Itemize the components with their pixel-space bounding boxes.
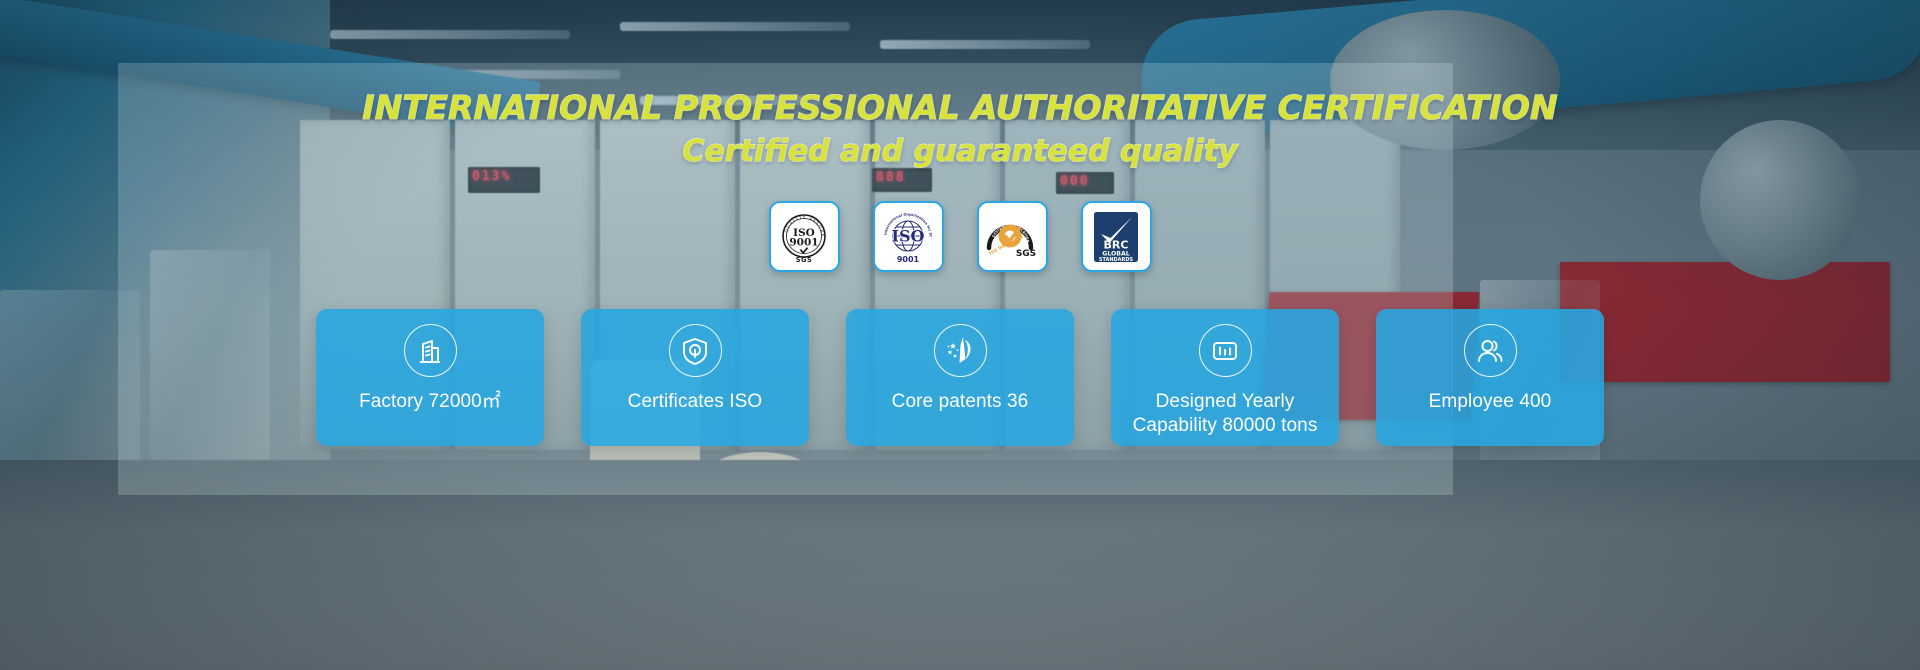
iso-globe-icon: International Organization for Standardi…: [877, 206, 939, 268]
feature-card-capability[interactable]: Designed Yearly Capability 80000 tons: [1111, 309, 1339, 446]
people-icon-wrap: [1464, 324, 1517, 377]
iso-9001-sgs-badge[interactable]: QUALITY ASSURED FIRM ISO 9001 SGS: [769, 201, 840, 272]
sgs-checkmark-icon: SYSTEM CERTIFICATION ISO 9001 2000 SGS: [981, 206, 1043, 268]
iso-9001-badge[interactable]: International Organization for Standardi…: [873, 201, 944, 272]
feature-card-label: Certificates ISO: [620, 390, 771, 414]
page-subtitle: Certified and guaranteed quality: [0, 134, 1920, 169]
svg-text:SGS: SGS: [1016, 249, 1036, 259]
certification-badges: QUALITY ASSURED FIRM ISO 9001 SGS Intern…: [0, 201, 1920, 272]
bar-chart-icon-wrap: [1199, 324, 1252, 377]
feature-card-label: Core patents 36: [884, 390, 1037, 414]
feature-card-label: Factory 72000㎡: [351, 390, 509, 414]
svg-text:9001: 9001: [897, 255, 920, 264]
feature-cards: Factory 72000㎡ Certificates ISO: [0, 309, 1920, 446]
headings: INTERNATIONAL PROFESSIONAL AUTHORITATIVE…: [0, 88, 1920, 169]
factory-building-icon-wrap: [404, 324, 457, 377]
patent-award-icon-wrap: [934, 324, 987, 377]
page-title: INTERNATIONAL PROFESSIONAL AUTHORITATIVE…: [0, 88, 1920, 127]
people-icon: [1475, 336, 1505, 366]
factory-building-icon: [415, 336, 445, 366]
certification-banner: 013% 888 000 INTERNATIONAL PROFESSIONAL …: [0, 0, 1920, 670]
feature-card-certificates[interactable]: Certificates ISO: [581, 309, 809, 446]
feature-card-label: Employee 400: [1421, 390, 1560, 414]
iso-9001-sgs-seal-icon: QUALITY ASSURED FIRM ISO 9001 SGS: [773, 206, 835, 268]
feature-card-employee[interactable]: Employee 400: [1376, 309, 1604, 446]
svg-text:STANDARDS: STANDARDS: [1099, 257, 1134, 263]
feature-card-label: Designed Yearly Capability 80000 tons: [1125, 390, 1326, 438]
sgs-iso-9001-2000-badge[interactable]: SYSTEM CERTIFICATION ISO 9001 2000 SGS: [977, 201, 1048, 272]
svg-text:9001: 9001: [789, 236, 818, 248]
svg-text:SGS: SGS: [796, 256, 812, 264]
shield-quality-icon: [680, 336, 710, 366]
brc-checkmark-icon: BRC GLOBAL STANDARDS: [1085, 206, 1147, 268]
brc-global-standards-badge[interactable]: BRC GLOBAL STANDARDS: [1081, 201, 1152, 272]
shield-quality-icon-wrap: [669, 324, 722, 377]
bar-chart-icon: [1210, 336, 1240, 366]
svg-text:ISO: ISO: [892, 226, 925, 245]
patent-award-icon: [944, 335, 976, 367]
feature-card-patents[interactable]: Core patents 36: [846, 309, 1074, 446]
feature-card-factory[interactable]: Factory 72000㎡: [316, 309, 544, 446]
